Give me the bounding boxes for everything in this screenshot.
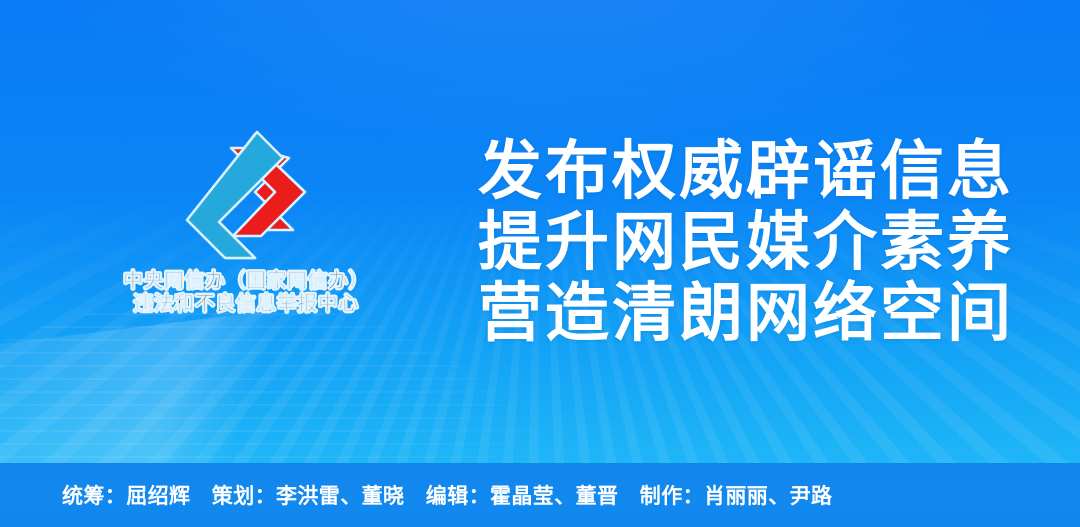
credits-band: 统筹：屈绍辉 策划：李洪雷、董晓 编辑：霍晶莹、董晋 制作：肖丽丽、尹路 [0,463,1080,527]
credits-text: 统筹：屈绍辉 策划：李洪雷、董晓 编辑：霍晶莹、董晋 制作：肖丽丽、尹路 [62,480,832,510]
promo-banner: 中央网信办（国家网信办） 违法和不良信息举报中心 发布权威辟谣信息 提升网民媒介… [0,0,1080,527]
headline-block: 发布权威辟谣信息 提升网民媒介素养 营造清朗网络空间 [478,136,1014,349]
headline-line-1: 发布权威辟谣信息 [478,136,1014,207]
headline-line-2: 提升网民媒介素养 [478,207,1014,278]
headline-line-3: 营造清朗网络空间 [478,278,1014,349]
cac-logo-icon [171,128,321,263]
logo-caption-line-1: 中央网信办（国家网信办） [96,270,396,293]
logo-block: 中央网信办（国家网信办） 违法和不良信息举报中心 [96,128,396,316]
logo-caption-line-2: 违法和不良信息举报中心 [96,293,396,316]
